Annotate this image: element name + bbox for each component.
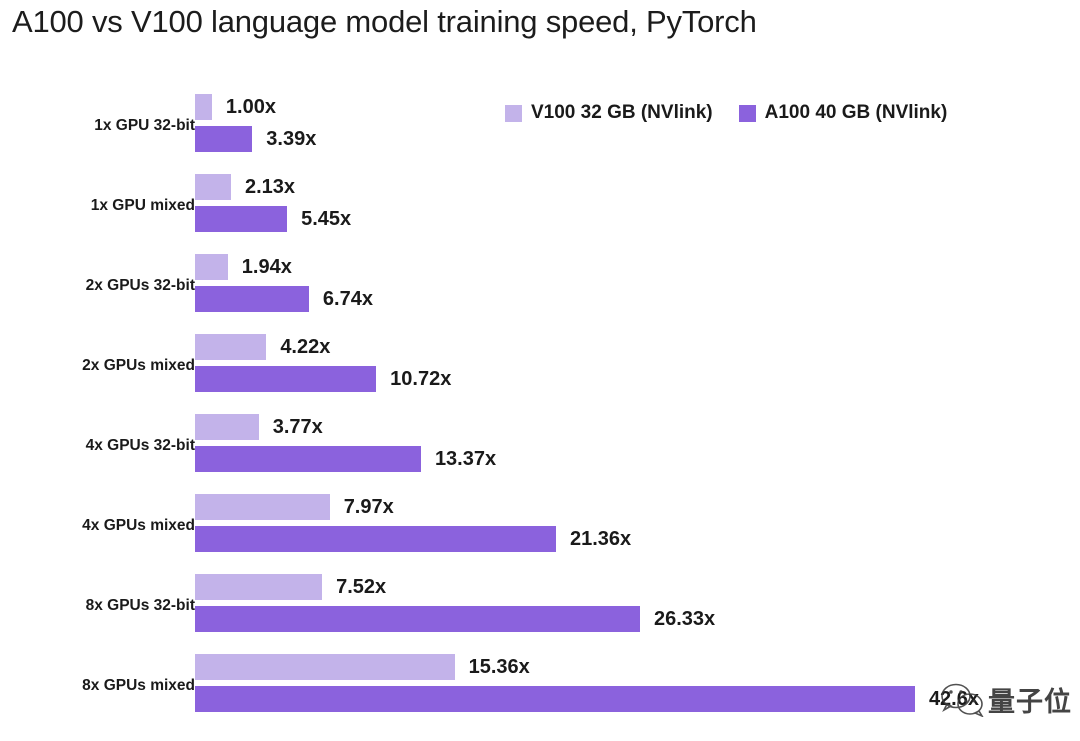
bar-value-label: 10.72x <box>390 368 451 391</box>
category-label: 1x GPU mixed <box>25 197 195 215</box>
bar-row: 10.72x <box>195 366 451 392</box>
bar-group: 8x GPUs 32-bit7.52x26.33x <box>0 566 1080 646</box>
bar-row: 6.74x <box>195 286 373 312</box>
bar-a100[interactable] <box>195 526 556 552</box>
bar-group: 2x GPUs 32-bit1.94x6.74x <box>0 246 1080 326</box>
bar-row: 13.37x <box>195 446 496 472</box>
category-label: 2x GPUs mixed <box>25 357 195 375</box>
bar-value-label: 13.37x <box>435 448 496 471</box>
bar-v100[interactable] <box>195 334 266 360</box>
chart-title: A100 vs V100 language model training spe… <box>12 4 757 40</box>
category-label: 4x GPUs 32-bit <box>25 437 195 455</box>
bar-value-label: 6.74x <box>323 288 373 311</box>
bar-value-label: 7.97x <box>344 496 394 519</box>
bar-value-label: 3.77x <box>273 416 323 439</box>
bar-row: 21.36x <box>195 526 631 552</box>
bar-row: 3.39x <box>195 126 316 152</box>
category-label: 1x GPU 32-bit <box>25 117 195 135</box>
bar-row: 2.13x <box>195 174 295 200</box>
bar-row: 15.36x <box>195 654 530 680</box>
bar-value-label: 3.39x <box>266 128 316 151</box>
plot-area: 1x GPU 32-bit1.00x3.39x1x GPU mixed2.13x… <box>0 86 1080 726</box>
bar-row: 7.52x <box>195 574 386 600</box>
bar-a100[interactable] <box>195 366 376 392</box>
chart-container: A100 vs V100 language model training spe… <box>0 0 1080 741</box>
bar-row: 3.77x <box>195 414 323 440</box>
bar-v100[interactable] <box>195 494 330 520</box>
bar-v100[interactable] <box>195 94 212 120</box>
bar-value-label: 26.33x <box>654 608 715 631</box>
bar-value-label: 21.36x <box>570 528 631 551</box>
bar-a100[interactable] <box>195 126 252 152</box>
bar-value-label: 1.00x <box>226 96 276 119</box>
bar-row: 1.00x <box>195 94 276 120</box>
bar-v100[interactable] <box>195 574 322 600</box>
bar-row: 26.33x <box>195 606 715 632</box>
category-label: 4x GPUs mixed <box>25 517 195 535</box>
bar-group: 4x GPUs 32-bit3.77x13.37x <box>0 406 1080 486</box>
bar-row: 4.22x <box>195 334 330 360</box>
bar-a100[interactable] <box>195 206 287 232</box>
bar-row: 5.45x <box>195 206 351 232</box>
bar-v100[interactable] <box>195 414 259 440</box>
bar-group: 2x GPUs mixed4.22x10.72x <box>0 326 1080 406</box>
bar-value-label: 5.45x <box>301 208 351 231</box>
bar-group: 1x GPU mixed2.13x5.45x <box>0 166 1080 246</box>
bar-value-label: 4.22x <box>280 336 330 359</box>
bar-a100[interactable] <box>195 606 640 632</box>
bar-group: 8x GPUs mixed15.36x42.6x <box>0 646 1080 726</box>
bar-v100[interactable] <box>195 654 455 680</box>
bar-row: 7.97x <box>195 494 394 520</box>
category-label: 2x GPUs 32-bit <box>25 277 195 295</box>
bar-a100[interactable] <box>195 446 421 472</box>
bar-a100[interactable] <box>195 686 915 712</box>
bar-value-label: 15.36x <box>469 656 530 679</box>
bar-v100[interactable] <box>195 254 228 280</box>
bar-value-label: 1.94x <box>242 256 292 279</box>
bar-row: 42.6x <box>195 686 979 712</box>
bar-value-label: 42.6x <box>929 688 979 711</box>
bar-row: 1.94x <box>195 254 292 280</box>
category-label: 8x GPUs 32-bit <box>25 597 195 615</box>
bar-v100[interactable] <box>195 174 231 200</box>
bar-value-label: 2.13x <box>245 176 295 199</box>
category-label: 8x GPUs mixed <box>25 677 195 695</box>
bar-a100[interactable] <box>195 286 309 312</box>
bar-value-label: 7.52x <box>336 576 386 599</box>
bar-group: 4x GPUs mixed7.97x21.36x <box>0 486 1080 566</box>
bar-group: 1x GPU 32-bit1.00x3.39x <box>0 86 1080 166</box>
